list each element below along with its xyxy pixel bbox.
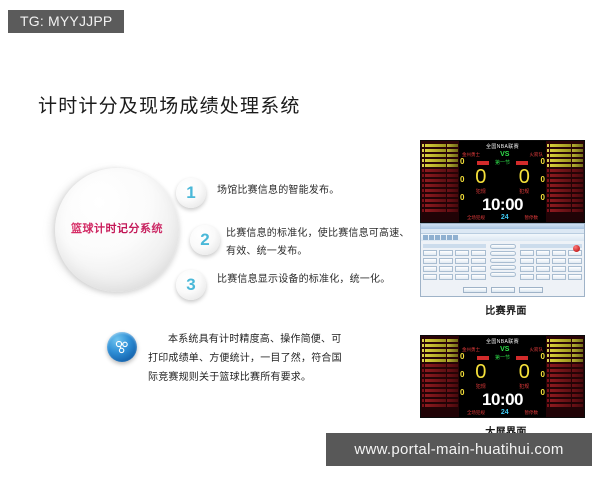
- figure-match-interface: 全国NBA联赛 金州勇士 VS 火箭队 第一节 0 0: [420, 140, 592, 317]
- home-team-panel: [423, 244, 486, 282]
- side-counter-left-1: 0: [460, 157, 464, 166]
- record-indicator-icon: [573, 245, 580, 252]
- team-color-chip-away: [516, 161, 528, 165]
- page-title: 计时计分及现场成绩处理系统: [38, 91, 301, 118]
- game-clock: 10:00: [482, 195, 523, 214]
- side-counter-right-1: 0: [541, 352, 545, 361]
- player-button[interactable]: [520, 250, 534, 256]
- foul-label-home: 犯规: [476, 188, 486, 195]
- center-circle-label: 篮球计时记分系统: [55, 220, 179, 236]
- bullet-number: 1: [176, 178, 206, 208]
- clock-control-button[interactable]: [490, 265, 516, 270]
- player-button[interactable]: [471, 250, 485, 256]
- shot-clock: 24: [501, 214, 509, 221]
- bullet-number: 3: [176, 270, 206, 300]
- player-button[interactable]: [455, 250, 469, 256]
- player-button[interactable]: [568, 274, 582, 280]
- figure-bigscreen-interface: 全国NBA联赛 金州勇士 VS 火箭队 第一节 0 0: [420, 335, 592, 438]
- figure-caption-1: 比赛界面: [420, 302, 592, 317]
- side-counter-left-1: 0: [460, 352, 464, 361]
- score-home: 0: [475, 167, 486, 187]
- network-nodes-icon: [107, 332, 137, 362]
- scoreboard-center: 全国NBA联赛 金州勇士 VS 火箭队 第一节 0 0: [459, 141, 546, 222]
- clock-control-panel: [488, 244, 518, 282]
- player-button[interactable]: [471, 274, 485, 280]
- team-color-chip-away: [516, 356, 528, 360]
- toolbar-icon[interactable]: [423, 235, 428, 240]
- team-color-chip-home: [477, 356, 489, 360]
- window-footer-buttons: [421, 285, 584, 296]
- summary-note-text: 本系统具有计时精度高、操作简便、可打印成绩单、方便统计，一目了然，符合国际竞赛规…: [148, 330, 344, 387]
- side-counter-right-3: 0: [541, 388, 545, 397]
- foul-label-away: 犯规: [519, 383, 529, 390]
- side-counter-right-3: 0: [541, 193, 545, 202]
- player-button[interactable]: [423, 266, 437, 272]
- foul-label-home: 犯规: [476, 383, 486, 390]
- panel-heading: [423, 244, 486, 248]
- vs-label: VS: [500, 151, 509, 158]
- player-button[interactable]: [552, 274, 566, 280]
- clock-control-button[interactable]: [490, 251, 516, 256]
- player-button[interactable]: [423, 258, 437, 264]
- side-counter-left-2: 0: [460, 370, 464, 379]
- player-button[interactable]: [455, 266, 469, 272]
- clock-control-button[interactable]: [490, 258, 516, 263]
- bullet-node-3[interactable]: 3: [176, 270, 206, 300]
- roster-panel-right: [546, 141, 584, 222]
- team-color-chip-home: [477, 161, 489, 165]
- period-label: 第一节: [495, 354, 510, 361]
- player-button[interactable]: [471, 266, 485, 272]
- window-toolbar: [421, 234, 584, 241]
- player-button[interactable]: [568, 266, 582, 272]
- player-button[interactable]: [536, 274, 550, 280]
- concept-diagram: 篮球计时记分系统 1 场馆比赛信息的智能发布。 2 比赛信息的标准化，使比赛信息…: [0, 130, 420, 320]
- scoreboard-title: 全国NBA联赛: [486, 338, 519, 345]
- footer-button[interactable]: [519, 287, 543, 293]
- slide-canvas: TG: MYYJJPP 计时计分及现场成绩处理系统 篮球计时记分系统 1 场馆比…: [0, 0, 600, 480]
- url-watermark: www.portal-main-huatihui.com: [326, 433, 592, 466]
- shot-clock: 24: [501, 409, 509, 416]
- bullet-node-1[interactable]: 1: [176, 178, 206, 208]
- player-button[interactable]: [552, 258, 566, 264]
- player-button[interactable]: [552, 266, 566, 272]
- player-button[interactable]: [455, 274, 469, 280]
- bullet-text-3: 比赛信息显示设备的标准化，统一化。: [217, 271, 417, 289]
- bullet-number: 2: [190, 225, 220, 255]
- team-home-name: 金州勇士: [462, 152, 480, 158]
- toolbar-icon[interactable]: [453, 235, 458, 240]
- player-button[interactable]: [423, 250, 437, 256]
- summary-note: 本系统具有计时精度高、操作简便、可打印成绩单、方便统计，一目了然，符合国际竞赛规…: [0, 326, 420, 396]
- player-button[interactable]: [536, 258, 550, 264]
- roster-panel-right: [546, 336, 584, 417]
- roster-panel-left: [421, 141, 459, 222]
- score-home: 0: [475, 362, 486, 382]
- side-counter-left-3: 0: [460, 193, 464, 202]
- footer-button[interactable]: [463, 287, 487, 293]
- player-button[interactable]: [520, 266, 534, 272]
- bonus-label-left: 全场犯规: [467, 215, 485, 221]
- score-away: 0: [519, 167, 530, 187]
- clock-control-button[interactable]: [490, 272, 516, 277]
- player-button[interactable]: [520, 274, 534, 280]
- side-counter-left-2: 0: [460, 175, 464, 184]
- toolbar-icon[interactable]: [447, 235, 452, 240]
- tg-watermark: TG: MYYJJPP: [8, 10, 124, 33]
- side-counter-right-2: 0: [541, 175, 545, 184]
- bullet-text-2: 比赛信息的标准化，使比赛信息可高速、有效、统一发布。: [226, 225, 411, 261]
- figure-column: 全国NBA联赛 金州勇士 VS 火箭队 第一节 0 0: [420, 140, 592, 438]
- player-button[interactable]: [536, 250, 550, 256]
- footer-button[interactable]: [491, 287, 515, 293]
- player-button[interactable]: [471, 258, 485, 264]
- game-clock: 10:00: [482, 390, 523, 409]
- side-counter-right-1: 0: [541, 157, 545, 166]
- bonus-label-left: 全场犯规: [467, 410, 485, 416]
- player-button[interactable]: [423, 274, 437, 280]
- player-button[interactable]: [568, 258, 582, 264]
- scoreboard-title: 全国NBA联赛: [486, 143, 519, 150]
- player-button[interactable]: [439, 258, 453, 264]
- vs-label: VS: [500, 346, 509, 353]
- bullet-node-2[interactable]: 2: [190, 225, 220, 255]
- bonus-label-right: 暂停数: [525, 410, 539, 416]
- toolbar-icon[interactable]: [435, 235, 440, 240]
- scoreboard-display-large: 全国NBA联赛 金州勇士 VS 火箭队 第一节 0 0: [420, 335, 585, 418]
- scoring-software-window: [420, 223, 585, 297]
- scoreboard-center: 全国NBA联赛 金州勇士 VS 火箭队 第一节 0 0: [459, 336, 546, 417]
- side-counter-left-3: 0: [460, 388, 464, 397]
- player-button[interactable]: [439, 274, 453, 280]
- player-button[interactable]: [455, 258, 469, 264]
- window-body: [421, 241, 584, 285]
- roster-panel-left: [421, 336, 459, 417]
- toolbar-icon[interactable]: [429, 235, 434, 240]
- bonus-label-right: 暂停数: [525, 215, 539, 221]
- clock-control-button[interactable]: [490, 244, 516, 249]
- team-home-name: 金州勇士: [462, 347, 480, 353]
- period-label: 第一节: [495, 159, 510, 166]
- player-button[interactable]: [439, 250, 453, 256]
- bullet-text-1: 场馆比赛信息的智能发布。: [217, 182, 417, 200]
- score-away: 0: [519, 362, 530, 382]
- scoreboard-display: 全国NBA联赛 金州勇士 VS 火箭队 第一节 0 0: [420, 140, 585, 223]
- toolbar-icon[interactable]: [441, 235, 446, 240]
- player-button[interactable]: [552, 250, 566, 256]
- player-button[interactable]: [520, 258, 534, 264]
- side-counter-right-2: 0: [541, 370, 545, 379]
- foul-label-away: 犯规: [519, 188, 529, 195]
- player-button[interactable]: [439, 266, 453, 272]
- player-button[interactable]: [536, 266, 550, 272]
